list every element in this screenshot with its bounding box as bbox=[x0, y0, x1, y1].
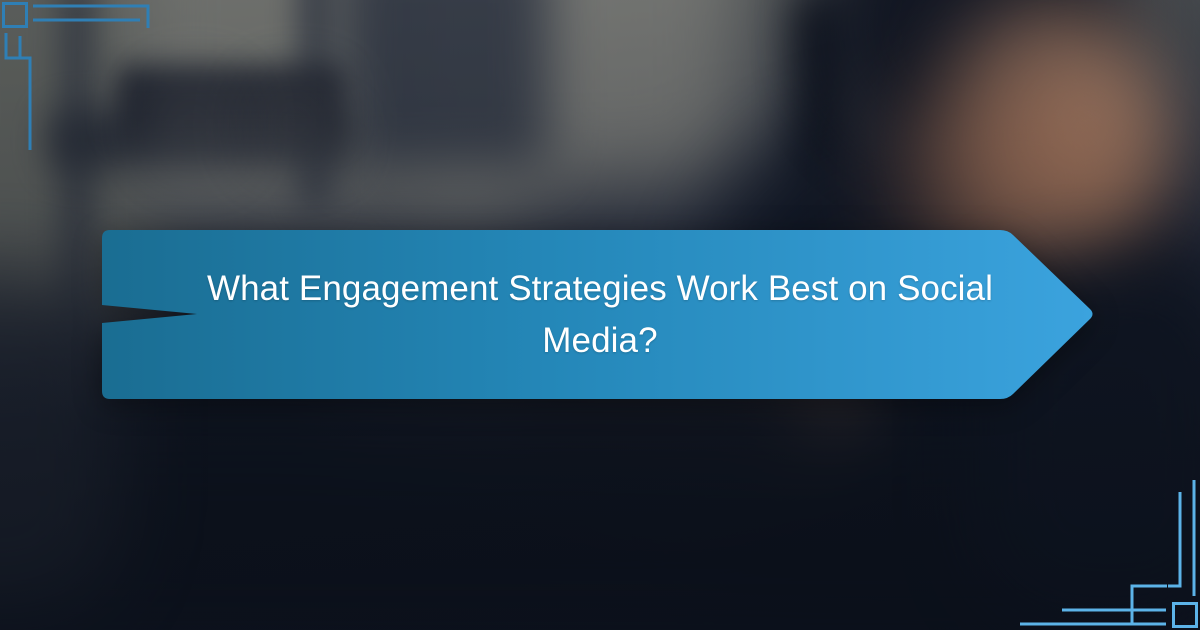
ribbon-title: What Engagement Strategies Work Best on … bbox=[202, 226, 998, 403]
title-ribbon: What Engagement Strategies Work Best on … bbox=[102, 226, 1098, 403]
social-share-card: What Engagement Strategies Work Best on … bbox=[0, 0, 1200, 630]
